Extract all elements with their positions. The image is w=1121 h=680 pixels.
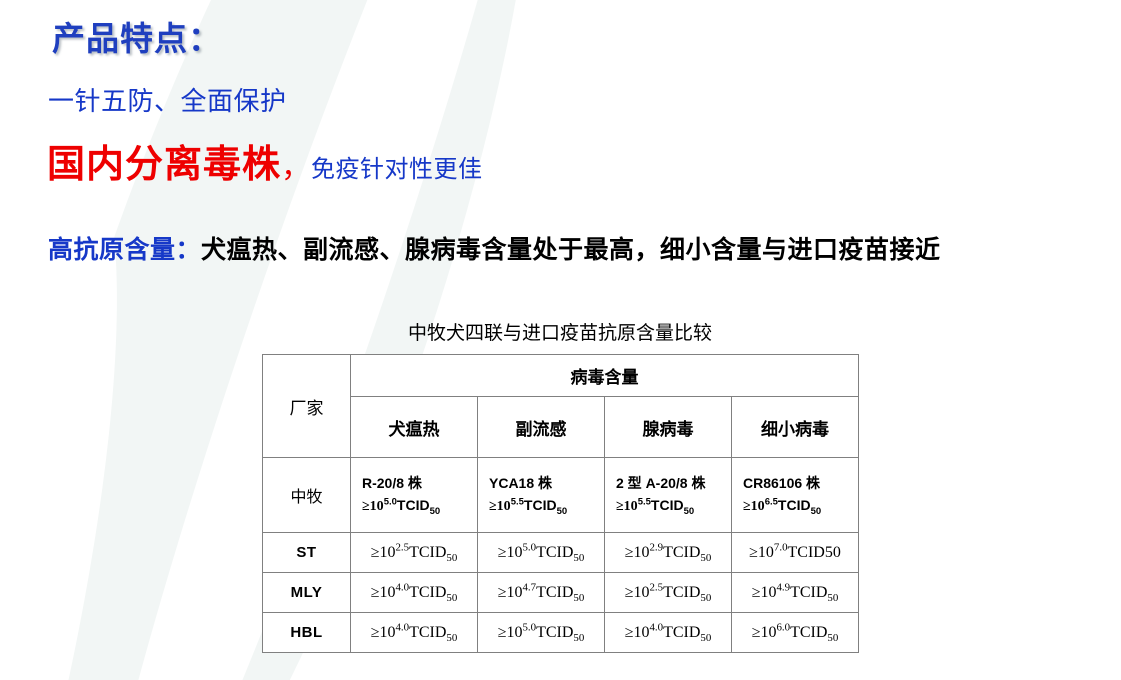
cell-titer: YCA18 株≥105.5TCID50 [478, 458, 605, 533]
strain-name: R-20/8 株 [362, 473, 477, 495]
titer-value: ≥104.7TCID50 [478, 584, 604, 602]
titer-value: ≥104.0TCID50 [351, 584, 477, 602]
cell-maker: ST [263, 533, 351, 573]
titer-value: ≥104.0TCID50 [351, 624, 477, 642]
table-row: HBL≥104.0TCID50≥105.0TCID50≥104.0TCID50≥… [263, 613, 859, 653]
cell-maker: HBL [263, 613, 351, 653]
table-head: 厂家 病毒含量 犬瘟热 副流感 腺病毒 细小病毒 [263, 355, 859, 458]
cell-titer: ≥104.7TCID50 [478, 573, 605, 613]
bullet-one-针五防: 一针五防、全面保护 [48, 81, 287, 118]
cell-titer: ≥107.0TCID50 [732, 533, 859, 573]
column-header-distemper: 犬瘟热 [351, 397, 478, 458]
bullet-high-antigen-body: 犬瘟热、副流感、腺病毒含量处于最高，细小含量与进口疫苗接近 [201, 237, 941, 264]
bullet-domestic-strain-emphasis: 国内分离毒株 [47, 144, 281, 186]
titer-value: ≥102.5TCID50 [351, 544, 477, 562]
strain-name: YCA18 株 [489, 473, 604, 495]
cell-maker: MLY [263, 573, 351, 613]
strain-name: CR86106 株 [743, 473, 858, 495]
column-header-maker: 厂家 [263, 355, 351, 458]
bullet-domestic-strain-tail: 免疫针对性更佳 [311, 157, 483, 183]
table-row: 中牧R-20/8 株≥105.0TCID50YCA18 株≥105.5TCID5… [263, 458, 859, 533]
bullet-domestic-strain-comma: ， [281, 151, 311, 184]
titer-value: ≥107.0TCID50 [732, 544, 858, 562]
table-row: MLY≥104.0TCID50≥104.7TCID50≥102.5TCID50≥… [263, 573, 859, 613]
titer-value: ≥105.0TCID50 [478, 624, 604, 642]
titer-value: ≥104.0TCID50 [605, 624, 731, 642]
titer-value: ≥104.9TCID50 [732, 584, 858, 602]
titer-value: ≥105.0TCID50 [362, 495, 477, 518]
table-row: ST≥102.5TCID50≥105.0TCID50≥102.9TCID50≥1… [263, 533, 859, 573]
titer-value: ≥102.5TCID50 [605, 584, 731, 602]
table-body: 中牧R-20/8 株≥105.0TCID50YCA18 株≥105.5TCID5… [263, 458, 859, 653]
slide-headline: 产品特点： [52, 12, 222, 60]
titer-value: ≥106.0TCID50 [732, 624, 858, 642]
column-header-parainfluenza: 副流感 [478, 397, 605, 458]
antigen-comparison-table: 厂家 病毒含量 犬瘟热 副流感 腺病毒 细小病毒 中牧R-20/8 株≥105.… [262, 354, 859, 653]
column-header-parvovirus: 细小病毒 [732, 397, 859, 458]
titer-value: ≥105.5TCID50 [489, 495, 604, 518]
titer-value: ≥105.5TCID50 [616, 495, 731, 518]
table-header-row-columns: 犬瘟热 副流感 腺病毒 细小病毒 [263, 397, 859, 458]
column-header-group-virus-content: 病毒含量 [351, 355, 859, 397]
column-header-adenovirus: 腺病毒 [605, 397, 732, 458]
titer-value: ≥102.9TCID50 [605, 544, 731, 562]
cell-titer: ≥104.0TCID50 [351, 613, 478, 653]
bullet-high-antigen: 高抗原含量：犬瘟热、副流感、腺病毒含量处于最高，细小含量与进口疫苗接近 [48, 230, 941, 266]
cell-titer: R-20/8 株≥105.0TCID50 [351, 458, 478, 533]
cell-titer: ≥102.9TCID50 [605, 533, 732, 573]
table-header-row-group: 厂家 病毒含量 [263, 355, 859, 397]
titer-value: ≥106.5TCID50 [743, 495, 858, 518]
cell-titer: ≥104.0TCID50 [351, 573, 478, 613]
cell-titer: ≥105.0TCID50 [478, 533, 605, 573]
cell-titer: ≥104.0TCID50 [605, 613, 732, 653]
bullet-high-antigen-label: 高抗原含量： [48, 237, 201, 264]
cell-titer: CR86106 株≥106.5TCID50 [732, 458, 859, 533]
cell-titer: ≥102.5TCID50 [605, 573, 732, 613]
cell-titer: ≥105.0TCID50 [478, 613, 605, 653]
cell-titer: ≥102.5TCID50 [351, 533, 478, 573]
cell-maker: 中牧 [263, 458, 351, 533]
bullet-domestic-strain: 国内分离毒株，免疫针对性更佳 [47, 146, 483, 184]
strain-name: 2 型 A-20/8 株 [616, 473, 731, 495]
cell-titer: 2 型 A-20/8 株≥105.5TCID50 [605, 458, 732, 533]
slide-content: 产品特点： 一针五防、全面保护 国内分离毒株，免疫针对性更佳 高抗原含量：犬瘟热… [0, 0, 1121, 680]
cell-titer: ≥106.0TCID50 [732, 613, 859, 653]
cell-titer: ≥104.9TCID50 [732, 573, 859, 613]
titer-value: ≥105.0TCID50 [478, 544, 604, 562]
table-caption: 中牧犬四联与进口疫苗抗原含量比较 [262, 318, 858, 345]
